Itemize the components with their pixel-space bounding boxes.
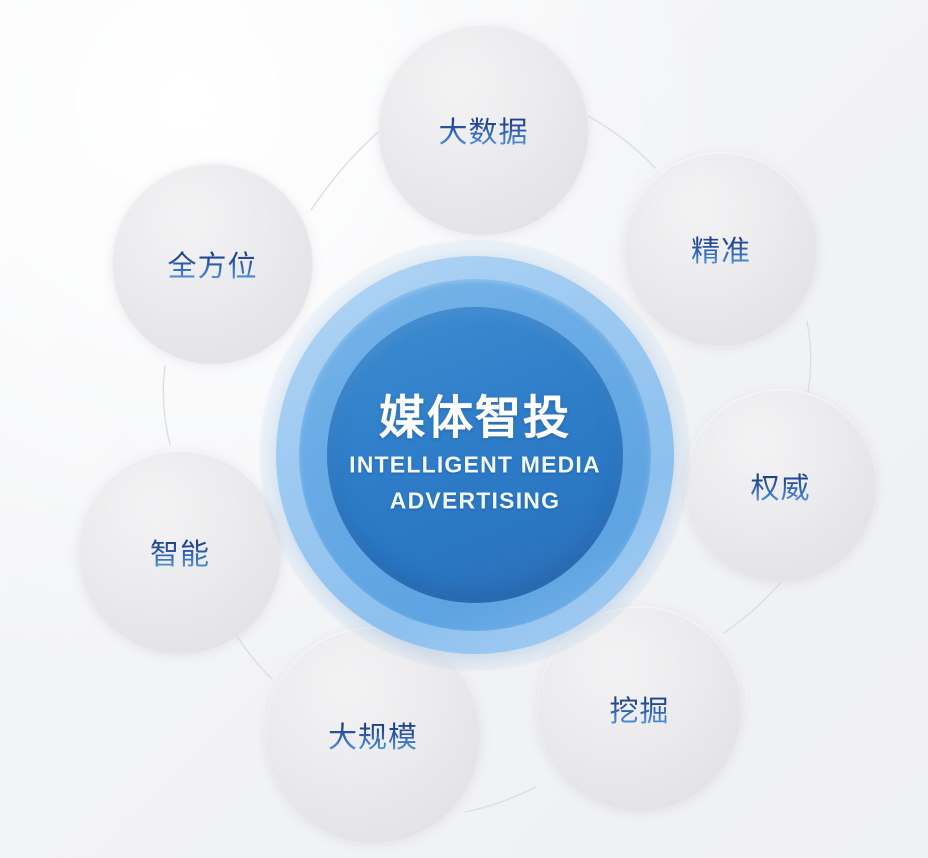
hub-subtitle-en-line1: INTELLIGENT MEDIA [325, 450, 625, 479]
hub-subtitle-en-line2: ADVERTISING [325, 487, 625, 516]
node-label: 精准 [691, 228, 751, 270]
connector-arc [163, 366, 170, 444]
hub-title-cn: 媒体智投 [325, 394, 625, 444]
node-label: 全方位 [167, 243, 257, 285]
node-label: 大规模 [328, 714, 418, 756]
hub-text-block: 媒体智投 INTELLIGENT MEDIA ADVERTISING [325, 394, 625, 517]
node-big-data[interactable]: 大数据 [378, 24, 589, 235]
node-label: 大数据 [438, 109, 528, 151]
diagram-canvas: 媒体智投 INTELLIGENT MEDIA ADVERTISING 大数据 精… [0, 0, 928, 858]
hub-circle[interactable]: 媒体智投 INTELLIGENT MEDIA ADVERTISING [260, 240, 690, 670]
node-intelligent[interactable]: 智能 [78, 450, 282, 654]
connector-arc [465, 787, 536, 812]
node-label: 权威 [750, 465, 810, 507]
node-label: 挖掘 [609, 688, 669, 730]
node-label: 智能 [150, 531, 210, 573]
node-authoritative[interactable]: 权威 [684, 389, 877, 582]
